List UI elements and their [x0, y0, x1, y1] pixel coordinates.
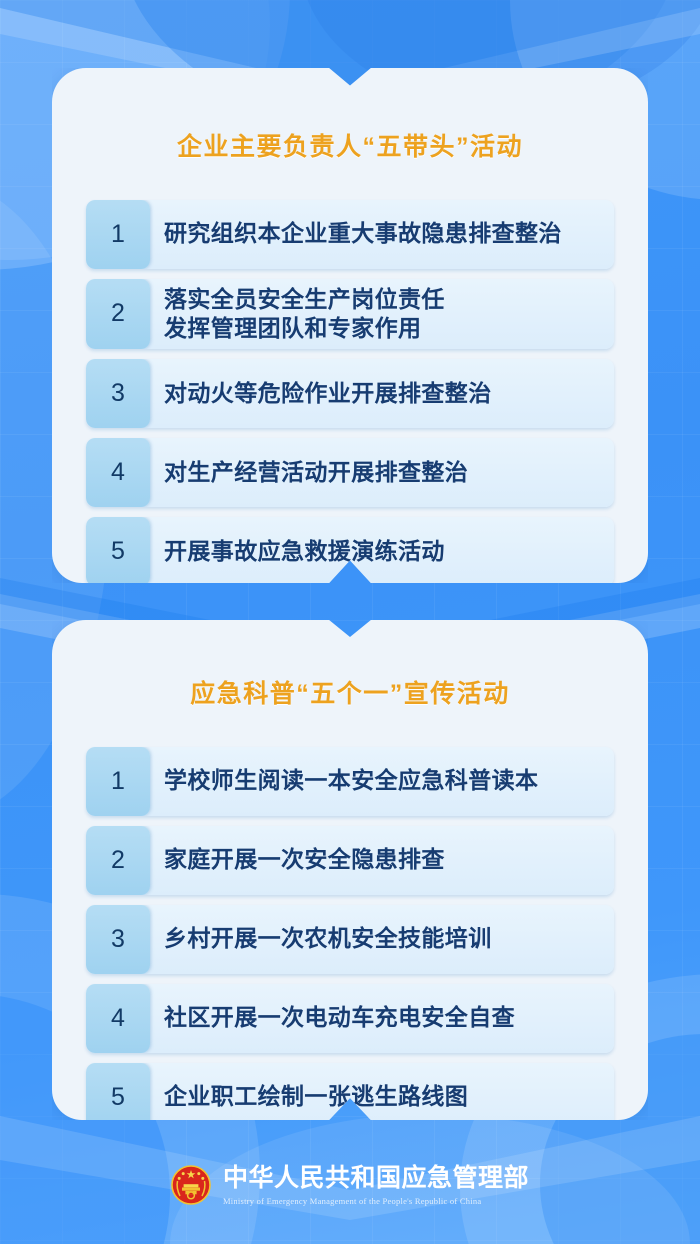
list-item-line: 落实全员安全生产岗位责任: [164, 285, 600, 314]
list-item-line: 家庭开展一次安全隐患排查: [164, 845, 600, 874]
list-item-number: 2: [86, 279, 150, 350]
list-item-text: 家庭开展一次安全隐患排查: [150, 826, 614, 895]
footer-text-block: 中华人民共和国应急管理部 Ministry of Emergency Manag…: [223, 1165, 529, 1206]
organization-name-cn: 中华人民共和国应急管理部: [223, 1165, 529, 1193]
list-item-line: 开展事故应急救援演练活动: [164, 537, 600, 566]
list-item[interactable]: 1 学校师生阅读一本安全应急科普读本: [86, 747, 614, 816]
list-item-text: 乡村开展一次农机安全技能培训: [150, 905, 614, 974]
china-national-emblem-icon: [171, 1165, 211, 1205]
list-item-text: 学校师生阅读一本安全应急科普读本: [150, 747, 614, 816]
list-item-line: 研究组织本企业重大事故隐患排查整治: [164, 219, 600, 248]
list-item-line: 社区开展一次电动车充电安全自查: [164, 1003, 600, 1032]
list-item-number: 1: [86, 200, 150, 269]
list-item-text: 社区开展一次电动车充电安全自查: [150, 984, 614, 1053]
card-title: 企业主要负责人“五带头”活动: [52, 89, 648, 163]
card-title: 应急科普“五个一”宣传活动: [52, 641, 648, 710]
list-item[interactable]: 1 研究组织本企业重大事故隐患排查整治: [86, 200, 614, 269]
list-item-number: 4: [86, 438, 150, 507]
list-item[interactable]: 5 开展事故应急救援演练活动: [86, 517, 614, 586]
list-item-number: 1: [86, 747, 150, 816]
list-item[interactable]: 4 对生产经营活动开展排查整治: [86, 438, 614, 507]
list-item[interactable]: 5 企业职工绘制一张逃生路线图: [86, 1063, 614, 1132]
list-item-text: 对生产经营活动开展排查整治: [150, 438, 614, 507]
list-item-text: 研究组织本企业重大事故隐患排查整治: [150, 200, 614, 269]
list-item-number: 3: [86, 905, 150, 974]
list-item-line: 对动火等危险作业开展排查整治: [164, 379, 600, 408]
activity-list: 1 研究组织本企业重大事故隐患排查整治 2 落实全员安全生产岗位责任 发挥管理团…: [52, 184, 648, 587]
organization-name-en: Ministry of Emergency Management of the …: [223, 1196, 481, 1206]
activity-list: 1 学校师生阅读一本安全应急科普读本 2 家庭开展一次安全隐患排查 3 乡村开展…: [52, 731, 648, 1132]
list-item-number: 4: [86, 984, 150, 1053]
list-item[interactable]: 4 社区开展一次电动车充电安全自查: [86, 984, 614, 1053]
list-item[interactable]: 3 乡村开展一次农机安全技能培训: [86, 905, 614, 974]
activity-card-enterprise-leaders: 企业主要负责人“五带头”活动 1 研究组织本企业重大事故隐患排查整治 2 落实全…: [52, 68, 648, 583]
content-stage: 企业主要负责人“五带头”活动 1 研究组织本企业重大事故隐患排查整治 2 落实全…: [0, 0, 700, 1244]
list-item-line: 乡村开展一次农机安全技能培训: [164, 924, 600, 953]
list-item-number: 3: [86, 359, 150, 428]
list-item-number: 5: [86, 517, 150, 586]
list-item-text: 开展事故应急救援演练活动: [150, 517, 614, 586]
list-item-line: 发挥管理团队和专家作用: [164, 314, 600, 343]
activity-card-emergency-science: 应急科普“五个一”宣传活动 1 学校师生阅读一本安全应急科普读本 2 家庭开展一…: [52, 620, 648, 1120]
list-item[interactable]: 2 落实全员安全生产岗位责任 发挥管理团队和专家作用: [86, 279, 614, 350]
footer: 中华人民共和国应急管理部 Ministry of Emergency Manag…: [0, 1165, 700, 1206]
list-item[interactable]: 2 家庭开展一次安全隐患排查: [86, 826, 614, 895]
list-item-line: 对生产经营活动开展排查整治: [164, 458, 600, 487]
list-item-text: 企业职工绘制一张逃生路线图: [150, 1063, 614, 1132]
list-item-text: 对动火等危险作业开展排查整治: [150, 359, 614, 428]
list-item-number: 5: [86, 1063, 150, 1132]
list-item[interactable]: 3 对动火等危险作业开展排查整治: [86, 359, 614, 428]
list-item-line: 企业职工绘制一张逃生路线图: [164, 1082, 600, 1111]
list-item-line: 学校师生阅读一本安全应急科普读本: [164, 766, 600, 795]
list-item-text: 落实全员安全生产岗位责任 发挥管理团队和专家作用: [150, 279, 614, 350]
list-item-number: 2: [86, 826, 150, 895]
